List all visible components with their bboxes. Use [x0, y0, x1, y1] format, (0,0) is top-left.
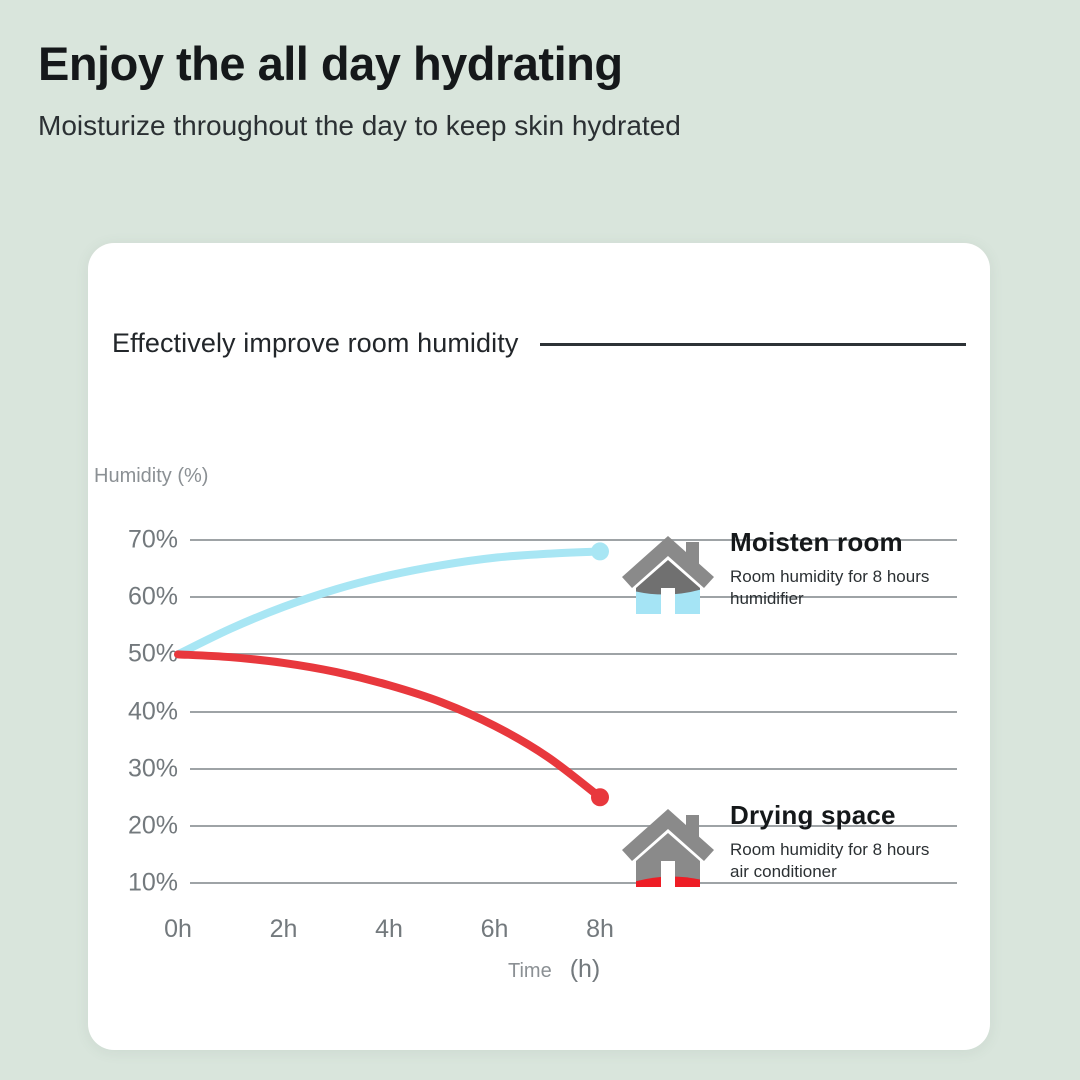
x-axis-tick: 2h: [270, 915, 298, 944]
legend-title: Moisten room: [730, 528, 929, 557]
legend-description: Room humidity for 8 hours air conditione…: [730, 839, 929, 884]
page-title: Enjoy the all day hydrating: [38, 38, 1038, 91]
legend-item-moisten-room[interactable]: Moisten room Room humidity for 8 hours h…: [620, 526, 929, 616]
page-header: Enjoy the all day hydrating Moisturize t…: [38, 38, 1038, 142]
x-axis-tick: 6h: [481, 915, 509, 944]
chart-line-drying-space: [178, 654, 600, 797]
legend-item-drying-space[interactable]: Drying space Room humidity for 8 hours a…: [620, 799, 929, 889]
chart-line-moisten-room: [178, 551, 600, 654]
x-axis-tick: 0h: [164, 915, 192, 944]
x-axis-title: Time (h): [508, 955, 708, 984]
legend-title: Drying space: [730, 801, 929, 830]
legend-text-drying-space: Drying space Room humidity for 8 hours a…: [730, 799, 929, 883]
legend-description: Room humidity for 8 hours humidifier: [730, 566, 929, 611]
x-axis-unit: (h): [570, 955, 601, 984]
chart-card: Effectively improve room humidity Humidi…: [88, 243, 990, 1050]
x-axis-tick: 4h: [375, 915, 403, 944]
house-water-low-icon: [620, 803, 716, 889]
page-subtitle: Moisturize throughout the day to keep sk…: [38, 109, 1038, 143]
chart-endpoint-moisten-room: [591, 542, 609, 560]
x-axis-tick: 8h: [586, 915, 614, 944]
x-axis-tick-labels: 0h2h4h6h8h: [88, 915, 990, 955]
humidity-line-chart: Humidity (%) 10%20%30%40%50%60%70% 0h2h4…: [88, 243, 990, 1050]
legend-text-moisten-room: Moisten room Room humidity for 8 hours h…: [730, 526, 929, 610]
x-axis-title-text: Time: [508, 960, 552, 983]
chart-endpoint-drying-space: [591, 788, 609, 806]
house-water-full-icon: [620, 530, 716, 616]
